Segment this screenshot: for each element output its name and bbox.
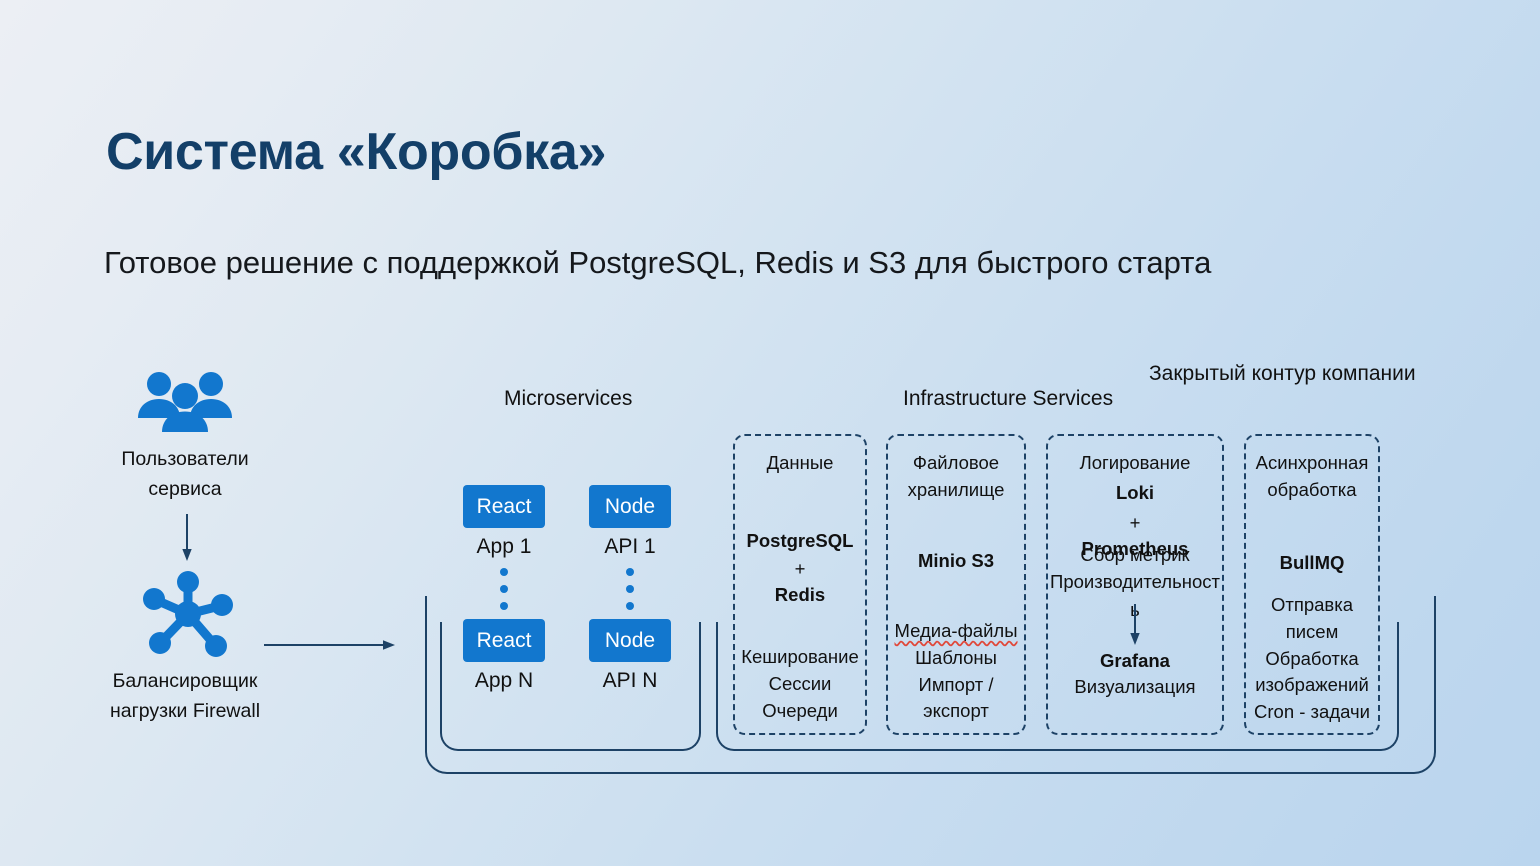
balancer-label-line1: Балансировщик: [113, 670, 258, 692]
ellipsis-dots-apis: [625, 568, 635, 610]
users-group-icon: [133, 370, 237, 432]
panel-async-primary: BullMQ: [1246, 550, 1378, 577]
users-label: Пользователи сервиса: [85, 444, 285, 504]
infra-panel-logs[interactable]: Логирование Loki + Prometheus Сбор метри…: [1046, 434, 1224, 735]
balancer-label: Балансировщик нагрузки Firewall: [76, 666, 294, 726]
panel-data-secondary: Redis: [735, 582, 865, 609]
chip-node-api1[interactable]: Node: [589, 485, 671, 528]
users-label-line1: Пользователи: [121, 448, 248, 470]
microservice-column-apps: React App 1 React App N: [449, 485, 559, 693]
caption-closed-loop: Закрытый контур компании: [1149, 362, 1416, 386]
balancer-label-line2: нагрузки Firewall: [110, 700, 260, 722]
network-hub-icon: [140, 566, 236, 662]
panel-files-head: Файловое хранилище: [888, 450, 1024, 504]
users-label-line2: сервиса: [148, 478, 221, 500]
page-title: Система «Коробка»: [106, 122, 606, 182]
label-app1: App 1: [449, 535, 559, 559]
panel-logs-plus: +: [1048, 510, 1222, 537]
panel-data-head: Данные: [735, 450, 865, 477]
panel-async-item-1: писем: [1286, 621, 1339, 642]
panel-logs-tertiary-caption: Визуализация: [1048, 674, 1222, 701]
panel-logs-head: Логирование: [1048, 450, 1222, 477]
chip-node-apin[interactable]: Node: [589, 619, 671, 662]
arrow-down-icon: [180, 514, 194, 562]
panel-data-plus: +: [735, 556, 865, 583]
infra-panel-async[interactable]: Асинхронная обработка BullMQ Отправка пи…: [1244, 434, 1380, 735]
infra-panel-data[interactable]: Данные PostgreSQL + Redis Кеширование Се…: [733, 434, 867, 735]
chip-react-appn[interactable]: React: [463, 619, 545, 662]
panel-data-item-2: Очереди: [762, 700, 838, 721]
panel-files-item-2: Импорт /: [919, 674, 994, 695]
panel-files-primary: Minio S3: [888, 548, 1024, 575]
panel-async-head-line2: обработка: [1267, 479, 1356, 500]
panel-files-item-0: Медиа-файлы: [894, 620, 1017, 641]
panel-files-item-3: экспорт: [923, 700, 989, 721]
panel-async-item-4: Cron - задачи: [1254, 701, 1370, 722]
panel-async-item-2: Обработка: [1265, 648, 1358, 669]
panel-async-items: Отправка писем Обработка изображений Cro…: [1246, 592, 1378, 726]
panel-async-item-0: Отправка: [1271, 594, 1353, 615]
microservice-column-apis: Node API 1 Node API N: [575, 485, 685, 693]
arrow-right-icon: [264, 638, 396, 652]
slide-canvas: Система «Коробка» Готовое решение с подд…: [0, 0, 1540, 866]
panel-logs-primary: Loki: [1048, 480, 1222, 507]
arrow-down-icon: [1128, 604, 1142, 646]
chip-react-app1[interactable]: React: [463, 485, 545, 528]
panel-files-head-line1: Файловое: [913, 452, 999, 473]
panel-data-items: Кеширование Сессии Очереди: [735, 644, 865, 724]
caption-infrastructure: Infrastructure Services: [903, 387, 1113, 411]
panel-files-item-1: Шаблоны: [915, 647, 997, 668]
label-apin: API N: [575, 669, 685, 693]
panel-async-head: Асинхронная обработка: [1246, 450, 1378, 504]
caption-microservices: Microservices: [504, 387, 632, 411]
panel-logs-overlap-line: Сбор метрик: [1048, 542, 1222, 569]
label-appn: App N: [449, 669, 559, 693]
panel-async-head-line1: Асинхронная: [1256, 452, 1369, 473]
panel-logs-tertiary: Grafana: [1048, 648, 1222, 675]
infra-panel-files[interactable]: Файловое хранилище Minio S3 Медиа-файлы …: [886, 434, 1026, 735]
panel-data-item-0: Кеширование: [741, 646, 859, 667]
panel-files-head-line2: хранилище: [908, 479, 1005, 500]
ellipsis-dots-apps: [499, 568, 509, 610]
label-api1: API 1: [575, 535, 685, 559]
panel-async-item-3: изображений: [1255, 674, 1369, 695]
panel-data-item-1: Сессии: [769, 673, 832, 694]
panel-files-items: Медиа-файлы Шаблоны Импорт / экспорт: [888, 618, 1024, 725]
panel-data-primary: PostgreSQL: [735, 528, 865, 555]
panel-logs-performance-line1: Производительност: [1050, 571, 1220, 592]
page-subtitle: Готовое решение с поддержкой PostgreSQL,…: [104, 238, 1374, 288]
